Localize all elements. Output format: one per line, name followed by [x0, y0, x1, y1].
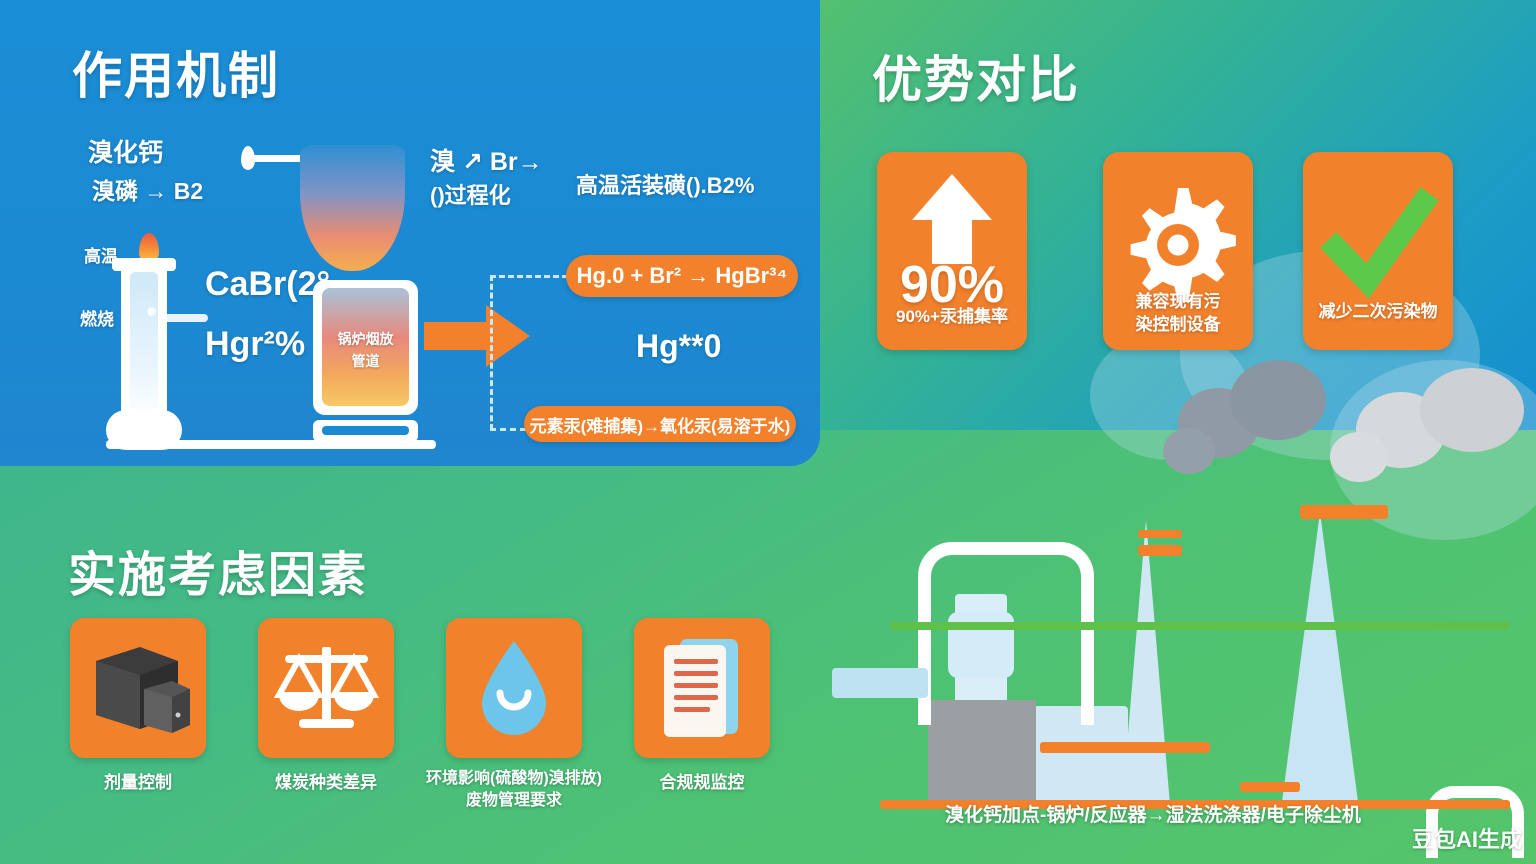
- smoke-plume-dark-2: [1230, 360, 1326, 440]
- advantage-caption-compatibility: 兼容现有污 染控制设备: [1093, 290, 1263, 336]
- advantage-caption-less-pollution: 减少二次污染物: [1293, 300, 1463, 323]
- process-arrow-icon: [424, 305, 530, 367]
- implementation-card-dosage[interactable]: [70, 618, 206, 758]
- check-icon: [1303, 170, 1453, 320]
- document-checklist-icon: [650, 631, 755, 746]
- balance-scale-icon: [269, 633, 384, 743]
- lower-pipe: [1240, 782, 1300, 792]
- test-tube-outlet-pipe: [158, 314, 208, 322]
- dashed-connector-vertical: [490, 275, 493, 430]
- cooling-tower-band: [1300, 505, 1388, 519]
- implementation-card-coal-type[interactable]: [258, 618, 394, 758]
- reactor-label-line1: 锅炉烟放: [322, 330, 409, 348]
- implementation-card-environment[interactable]: [446, 618, 582, 758]
- emission-limit-line: [890, 622, 1510, 630]
- label-injection: 溴 ↗ Br→: [430, 142, 543, 178]
- water-drop-icon: [464, 631, 564, 746]
- equation-pill: Hg.0 + Br² → HgBr³⁴: [566, 255, 798, 297]
- label-injection-sub: ()过程化: [430, 178, 511, 210]
- ai-watermark: 豆包AI生成: [1412, 822, 1522, 854]
- label-activation: 高温活装磺().B2%: [576, 168, 754, 200]
- advantage-caption-capture-rate: 90%+汞捕集率: [867, 305, 1037, 328]
- chimney-band-2: [1138, 545, 1182, 556]
- smoke-plume-light-3: [1330, 432, 1388, 482]
- reactor-base-slot: [322, 426, 409, 435]
- page-title-implementation: 实施考虑因素: [68, 535, 368, 605]
- implementation-caption-compliance: 合规规监控: [597, 772, 807, 794]
- label-tube-formula-1: CaBr(2°: [205, 265, 330, 304]
- smoke-plume-light-2: [1420, 368, 1524, 452]
- transfer-pipe: [1040, 742, 1210, 753]
- chimney-band-1: [1138, 530, 1182, 538]
- label-combustion: 燃烧: [80, 305, 114, 330]
- page-title-advantages: 优势对比: [872, 40, 1080, 112]
- label-product-hg: Hg**0: [636, 328, 721, 365]
- page-title-mechanism: 作用机制: [72, 36, 280, 108]
- implementation-caption-environment: 环境影响(硫酸物)溴排放) 废物管理要求: [409, 768, 619, 812]
- duct-arch: [918, 542, 1094, 725]
- chimney-stack: [1122, 520, 1170, 805]
- dashed-connector-top: [490, 275, 568, 278]
- label-reagent-sub: 溴磷 → B2: [92, 172, 203, 206]
- server-boxes-icon: [78, 633, 198, 743]
- result-pill: 元素汞(难捕集)→氧化汞(易溶于水): [524, 406, 796, 442]
- cooling-tower: [1282, 512, 1358, 802]
- implementation-caption-coal-type: 煤炭种类差异: [221, 772, 431, 794]
- inlet-duct: [832, 668, 928, 698]
- test-tube-liquid: [130, 272, 158, 417]
- dashed-connector-bottom: [490, 428, 526, 431]
- bubble-decor: [147, 307, 156, 316]
- infographic-canvas: 作用机制 溴化钙 溴磷 → B2 高温 燃烧 溴 ↗ Br→ ()过程化 高温活…: [0, 0, 1536, 864]
- implementation-card-compliance[interactable]: [634, 618, 770, 758]
- label-tube-formula-2: Hgr²%: [205, 325, 305, 364]
- implementation-caption-dosage: 剂量控制: [33, 772, 243, 794]
- smoke-plume-dark-3: [1163, 428, 1215, 474]
- reactor-label-line2: 管道: [322, 352, 409, 370]
- label-reagent: 溴化钙: [88, 133, 163, 169]
